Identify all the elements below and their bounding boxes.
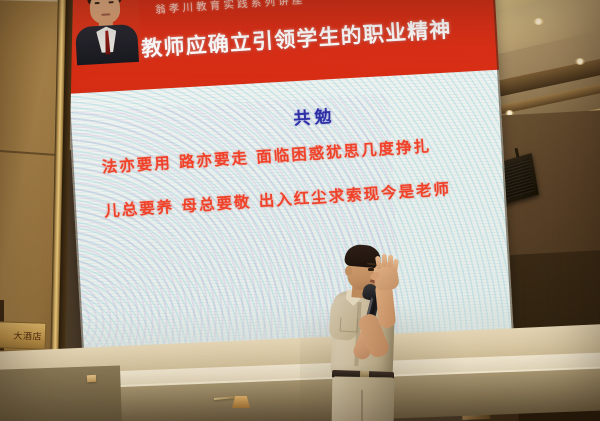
presenter <box>320 240 440 421</box>
hotel-sign: 大酒店 <box>0 321 46 350</box>
hotel-sign-text: 大酒店 <box>13 329 42 343</box>
portrait-photo <box>69 0 142 65</box>
presenter-shirt-pocket <box>340 318 359 333</box>
portrait-eye-right <box>109 1 114 3</box>
portrait-eye-left <box>95 2 100 4</box>
floor-object <box>87 375 96 383</box>
stage-lower-left <box>0 365 122 421</box>
photo-scene: 翁孝川教育实践系列讲座 教师应确立引领学生的职业精神 共勉 法亦要用 路亦要走 … <box>0 0 600 421</box>
downlight-icon <box>533 18 544 25</box>
led-screen: 翁孝川教育实践系列讲座 教师应确立引领学生的职业精神 共勉 法亦要用 路亦要走 … <box>62 0 514 363</box>
presenter-ear <box>345 266 352 276</box>
presenter-pants-seam <box>361 390 363 421</box>
downlight-icon <box>575 58 585 65</box>
presenter-finger <box>392 259 399 273</box>
presenter-pants <box>332 376 395 421</box>
presenter-finger <box>382 254 388 267</box>
